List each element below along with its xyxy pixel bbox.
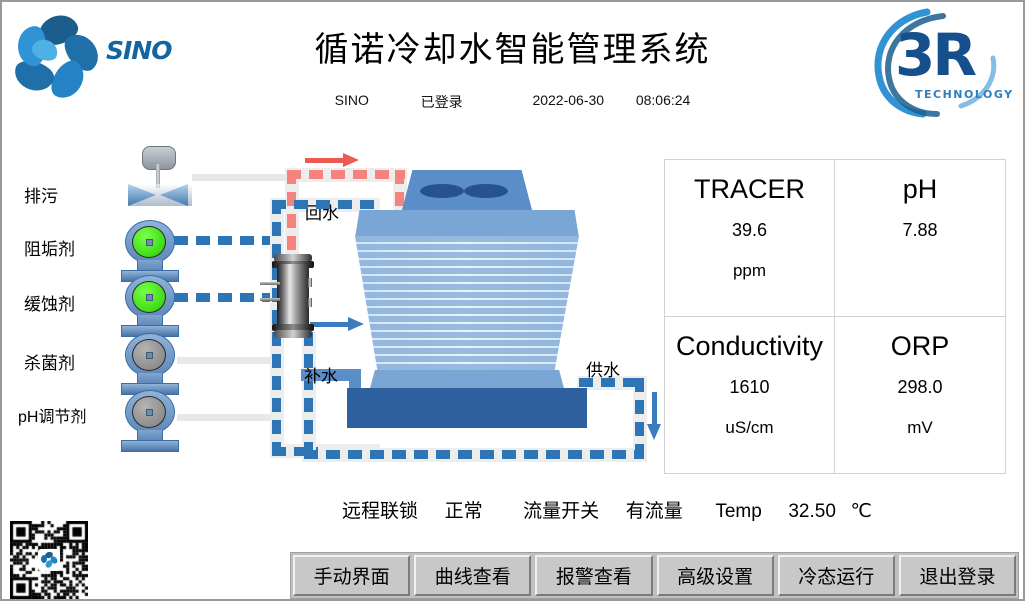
measurement-panel: TRACER 39.6 ppm pH 7.88 Conductivity 161… (664, 159, 1006, 474)
hx-bottom-cap (274, 330, 312, 338)
pipe-return-left (287, 170, 296, 266)
pipe-ph-line (177, 414, 272, 421)
pump-shaft-dot (146, 409, 153, 416)
measurement-tracer[interactable]: TRACER 39.6 ppm (665, 160, 835, 317)
pump-antiscalant[interactable] (119, 220, 181, 282)
measurement-value: 298.0 (897, 377, 942, 398)
measurement-label: pH (903, 172, 938, 206)
measurement-value: 39.6 (732, 220, 767, 241)
pump-shaft-dot (146, 352, 153, 359)
hx-body (277, 264, 309, 326)
label-makeup-water: 补水 (304, 362, 338, 387)
system-date: 2022-06-30 (532, 92, 604, 108)
temperature-unit: ℃ (850, 500, 871, 523)
qr-code[interactable] (10, 521, 88, 599)
label-ph-adjuster: pH调节剂 (18, 403, 86, 427)
button-alarm-view[interactable]: 报警查看 (535, 555, 652, 596)
tower-basin (347, 388, 587, 428)
3r-technology-logo: 3R TECHNOLOGY (865, 6, 1015, 118)
flow-switch-value: 有流量 (626, 496, 683, 523)
remote-interlock-value: 正常 (445, 496, 483, 523)
label-supply-water: 供水 (586, 356, 620, 381)
temperature-label: Temp (715, 501, 761, 523)
tower-fan-blade-left (420, 184, 464, 198)
flow-switch-label: 流量开关 (523, 496, 599, 523)
label-antiscalant: 阻垢剂 (24, 235, 75, 260)
arrow-return-flow (305, 156, 359, 164)
measurement-value: 1610 (729, 377, 769, 398)
measurement-conductivity[interactable]: Conductivity 1610 uS/cm (665, 317, 835, 474)
heat-exchanger-icon[interactable] (270, 254, 316, 336)
measurement-label: TRACER (694, 172, 805, 206)
pipe-circ-return-run (304, 450, 644, 459)
header-bar: SINO 循诺冷却水智能管理系统 SINO 已登录 2022-06-30 08:… (2, 2, 1023, 122)
temperature-value: 32.50 (788, 501, 836, 523)
toolbar: 手动界面 曲线查看 报警查看 高级设置 冷态运行 退出登录 (290, 552, 1019, 599)
tower-fan-housing (402, 170, 532, 210)
qr-center-logo (38, 549, 60, 571)
measurement-ph[interactable]: pH 7.88 (835, 160, 1005, 317)
measurement-label: ORP (891, 329, 950, 363)
measurement-value: 7.88 (902, 220, 937, 241)
pump-shaft-dot (146, 239, 153, 246)
button-advanced-settings[interactable]: 高级设置 (657, 555, 774, 596)
tower-louver-tint (355, 236, 579, 384)
application-window: SINO 循诺冷却水智能管理系统 SINO 已登录 2022-06-30 08:… (0, 0, 1025, 601)
measurement-unit: mV (907, 418, 933, 438)
button-manual-interface[interactable]: 手动界面 (293, 555, 410, 596)
button-trend-view[interactable]: 曲线查看 (414, 555, 531, 596)
tower-top-section (355, 210, 579, 238)
system-time: 08:06:24 (636, 92, 691, 108)
pipe-circ-down (304, 332, 313, 456)
hx-nozzle-upper (308, 278, 312, 287)
hx-port-left-lower (260, 298, 280, 301)
measurement-unit: uS/cm (725, 418, 773, 438)
cooling-tower[interactable] (347, 170, 587, 420)
hx-port-left-upper (260, 282, 280, 285)
pump-ph-adjuster[interactable] (119, 390, 181, 452)
button-logout[interactable]: 退出登录 (899, 555, 1016, 596)
3r-tagline: TECHNOLOGY (915, 88, 1014, 101)
button-cold-start-run[interactable]: 冷态运行 (778, 555, 895, 596)
hx-nozzle-lower (308, 298, 312, 307)
remote-interlock-label: 远程联锁 (342, 496, 418, 523)
3r-wordmark: 3R (895, 26, 974, 84)
label-blowdown: 排污 (24, 182, 58, 207)
label-corrosion-inhibitor: 缓蚀剂 (24, 290, 75, 315)
login-status: 已登录 (421, 92, 463, 112)
pump-corrosion-inhibitor[interactable] (119, 275, 181, 337)
pipe-supply-down (635, 378, 644, 456)
valve-body-right (160, 184, 188, 206)
tower-fan-blade-right (464, 184, 508, 198)
pump-shaft-dot (146, 294, 153, 301)
current-user: SINO (335, 92, 369, 108)
status-bar: 远程联锁 正常 流量开关 有流量 Temp 32.50 ℃ (342, 496, 1014, 526)
pump-base (121, 440, 179, 452)
pump-biocide[interactable] (119, 333, 181, 395)
label-biocide: 杀菌剂 (24, 349, 75, 374)
pipe-biocide-line (177, 357, 272, 364)
measurement-unit: ppm (733, 261, 766, 281)
measurement-orp[interactable]: ORP 298.0 mV (835, 317, 1005, 474)
arrow-supply-flow (650, 392, 658, 438)
measurement-label: Conductivity (676, 329, 823, 363)
valve-body-left (128, 184, 156, 206)
pipe-antiscalant-dose (174, 236, 278, 245)
blowdown-valve-icon[interactable] (124, 144, 196, 206)
